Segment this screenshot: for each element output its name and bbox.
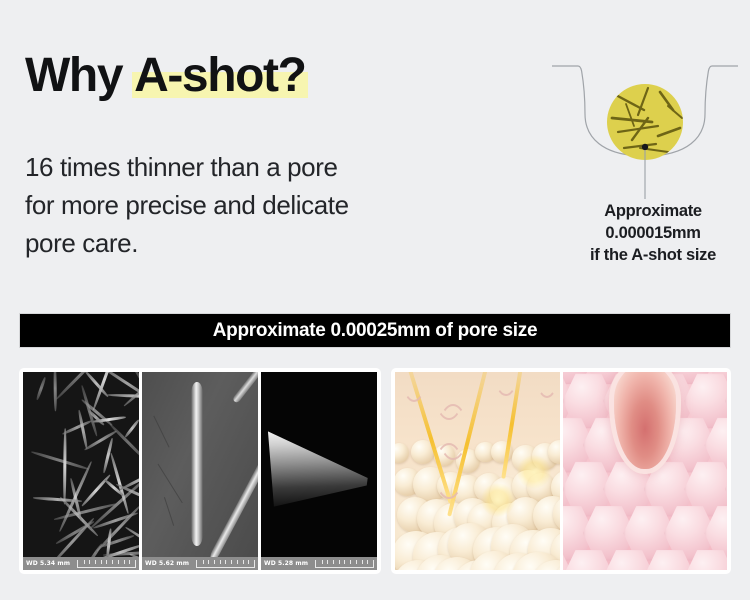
headline-plain-text: Why [25, 49, 134, 102]
sem-info-bar: WD 5.34 mm [23, 557, 139, 570]
headline-highlighted-text: A-shot? [134, 52, 306, 100]
spicule-tertiary-icon [232, 372, 258, 404]
sem-microscopy-group: WD 5.34 mm WD 5.62 mm WD 5.28 mm [19, 368, 381, 574]
sem-scale-bar-icon [77, 560, 136, 568]
page-title: Why A-shot? [25, 52, 306, 100]
image-gallery-strip: WD 5.34 mm WD 5.62 mm WD 5.28 mm [19, 368, 731, 574]
skin-render-group [391, 368, 731, 574]
needle-tip-icon [268, 431, 368, 506]
sem-info-bar: WD 5.62 mm [142, 557, 258, 570]
subheading-line-1: 16 times thinner than a pore [25, 148, 349, 186]
sem-scale-bar-icon [315, 560, 374, 568]
diagram-caption: Approximate 0.000015mm if the A-shot siz… [556, 200, 750, 266]
pore-cross-section-diagram [540, 52, 750, 192]
subheading-line-2: for more precise and delicate [25, 186, 349, 224]
sem-working-distance-label: WD 5.28 mm [264, 560, 308, 567]
spicule-secondary-icon [208, 452, 258, 562]
render-panel-skin-fibers [395, 372, 560, 570]
sem-panel-scattered-needles: WD 5.34 mm [23, 372, 139, 570]
subheading-line-3: pore care. [25, 224, 349, 262]
pore-size-banner-text: Approximate 0.00025mm of pore size [213, 320, 538, 342]
sem-info-bar: WD 5.28 mm [261, 557, 377, 570]
pore-size-banner: Approximate 0.00025mm of pore size [19, 313, 731, 348]
sem-working-distance-label: WD 5.34 mm [26, 560, 70, 567]
sem-working-distance-label: WD 5.62 mm [145, 560, 189, 567]
hero-section: Why A-shot? 16 times thinner than a pore… [0, 0, 750, 300]
sem-scale-bar-icon [196, 560, 255, 568]
spicule-primary-icon [191, 382, 202, 546]
diagram-caption-line-2: 0.000015mm [556, 222, 750, 244]
diagram-caption-line-3: if the A-shot size [556, 244, 750, 266]
render-panel-pore-cells [563, 372, 728, 570]
pointer-dot-icon [642, 144, 648, 150]
sem-panel-needle-tip: WD 5.28 mm [261, 372, 377, 570]
diagram-caption-line-1: Approximate [556, 200, 750, 222]
subheading: 16 times thinner than a pore for more pr… [25, 148, 349, 262]
sem-panel-single-spicule: WD 5.62 mm [142, 372, 258, 570]
